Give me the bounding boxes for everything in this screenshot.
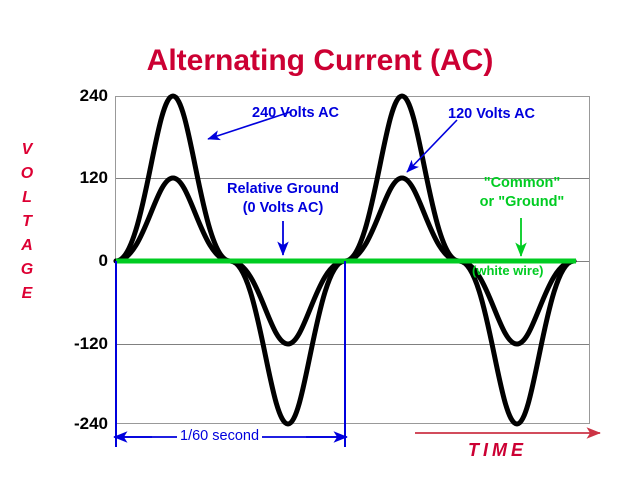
annotation-common-line2: or "Ground" xyxy=(458,193,586,212)
y-tick-120: 120 xyxy=(40,168,108,188)
annotation-120-volts-ac: 120 Volts AC xyxy=(448,105,535,124)
y-tick-neg240: -240 xyxy=(40,414,108,434)
period-label: 1/60 second xyxy=(177,428,262,444)
gridline-0 xyxy=(116,261,589,262)
y-axis-label-letter: V xyxy=(16,138,38,162)
y-axis-label-letter: E xyxy=(16,282,38,306)
y-axis-label-letter: O xyxy=(16,162,38,186)
y-tick-neg120: -120 xyxy=(40,334,108,354)
annotation-relative-ground-line1: Relative Ground xyxy=(212,180,354,199)
gridline-neg120 xyxy=(116,344,589,345)
annotation-common-line1: "Common" xyxy=(458,174,586,193)
y-axis-label-voltage: V O L T A G E xyxy=(16,138,38,306)
x-axis-label-time: TIME xyxy=(468,440,527,461)
y-axis-label-letter: G xyxy=(16,258,38,282)
annotation-relative-ground: Relative Ground (0 Volts AC) xyxy=(212,180,354,218)
y-tick-240: 240 xyxy=(40,86,108,106)
y-axis-label-letter: A xyxy=(16,234,38,258)
annotation-common-ground: "Common" or "Ground" xyxy=(458,174,586,212)
ac-waveform-figure: Alternating Current (AC) V O L T A G E 2… xyxy=(0,0,640,484)
y-tick-0: 0 xyxy=(40,251,108,271)
y-axis-label-letter: T xyxy=(16,210,38,234)
annotation-240-volts-ac: 240 Volts AC xyxy=(252,104,339,123)
y-axis-label-letter: L xyxy=(16,186,38,210)
annotation-relative-ground-line2: (0 Volts AC) xyxy=(212,199,354,218)
annotation-white-wire: (white wire) xyxy=(472,263,544,278)
chart-title: Alternating Current (AC) xyxy=(0,44,640,78)
plot-area xyxy=(115,96,590,424)
